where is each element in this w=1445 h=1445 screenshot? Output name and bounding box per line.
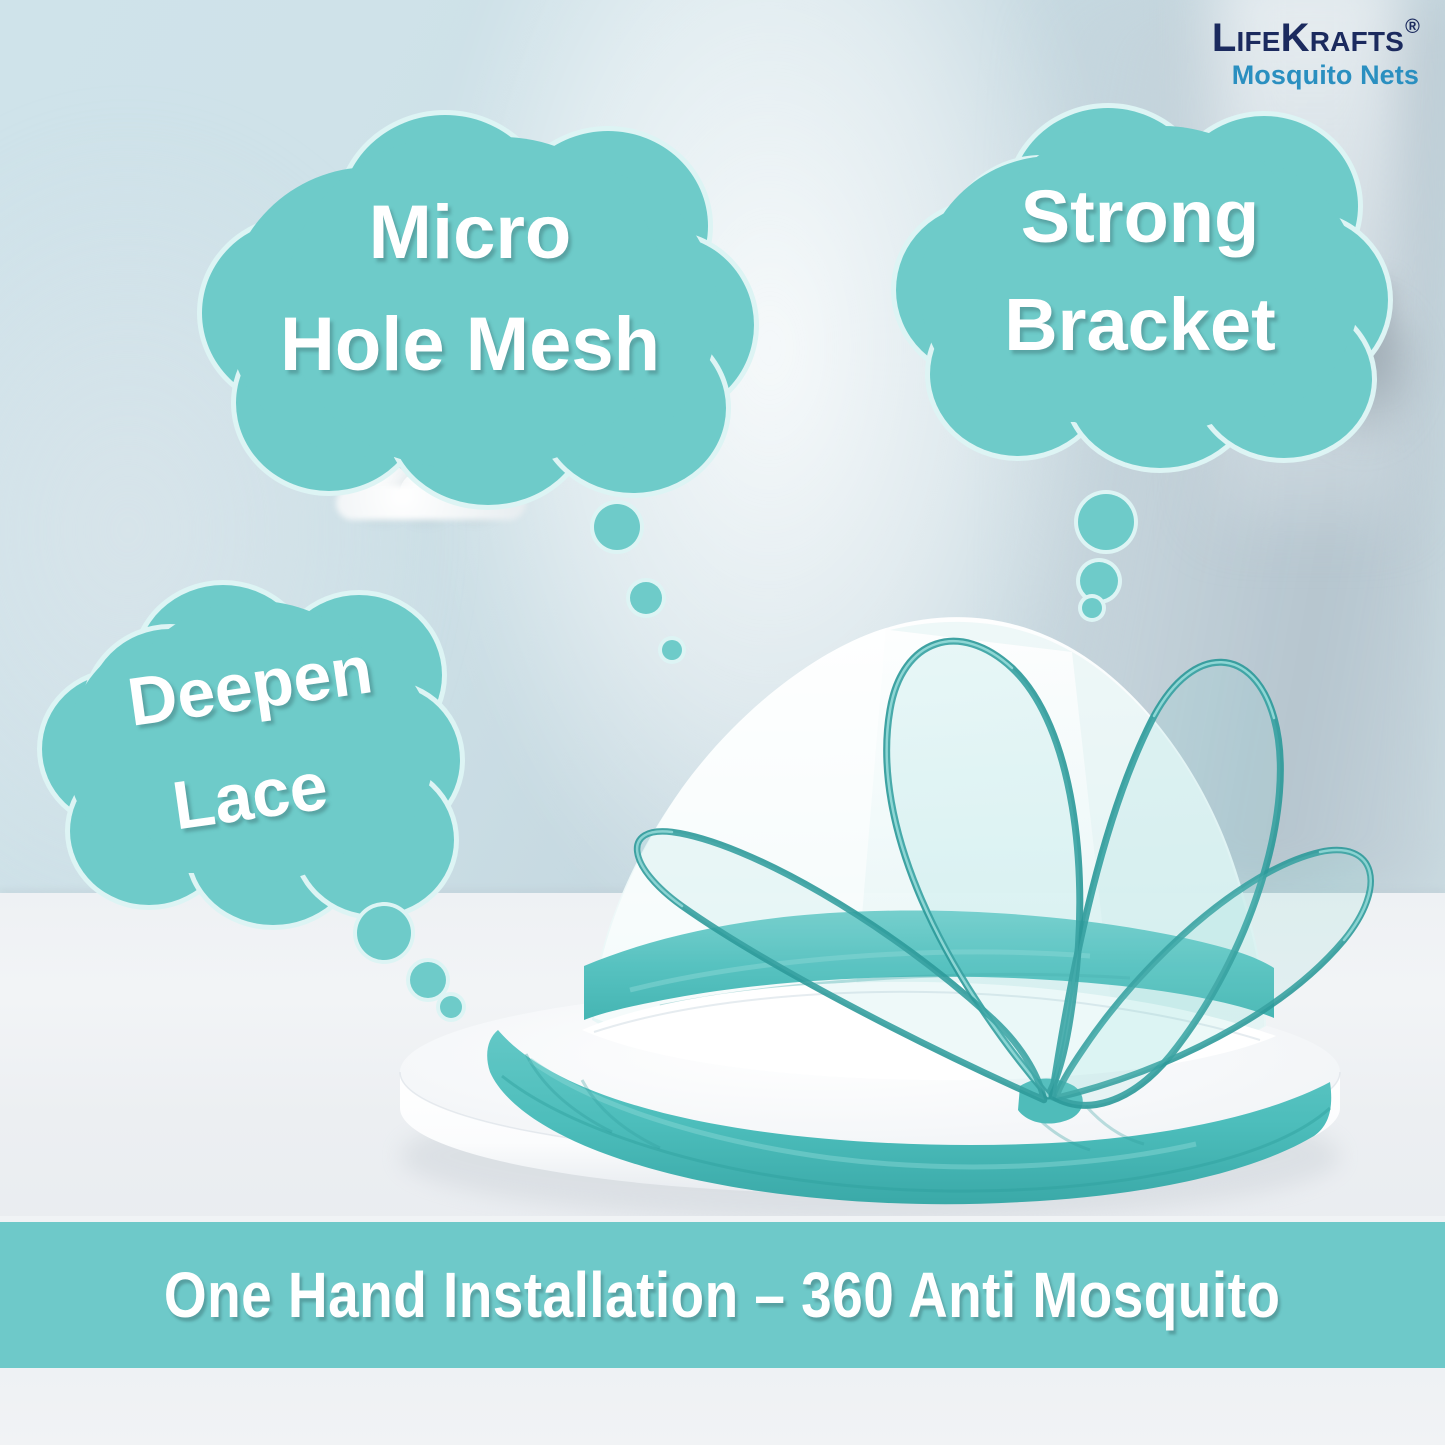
callout-line-2: Bracket: [890, 282, 1390, 367]
mosquito-net-illustration: [330, 520, 1390, 1240]
bottom-banner: One Hand Installation – 360 Anti Mosquit…: [0, 1222, 1445, 1368]
product-marketing-image: LifeKrafts® Mosquito Nets Micro Hole Mes…: [0, 0, 1445, 1445]
brand-name: LifeKrafts®: [1212, 18, 1419, 58]
callout-line-1: Strong: [890, 174, 1390, 259]
callout-line-1: Micro: [190, 189, 750, 276]
banner-headline: One Hand Installation – 360 Anti Mosquit…: [164, 1258, 1280, 1332]
registered-trademark-icon: ®: [1405, 16, 1420, 38]
brand-name-text: LifeKrafts: [1212, 16, 1404, 60]
product-photo-mosquito-net: [330, 520, 1390, 1240]
brand-logo: LifeKrafts® Mosquito Nets: [1212, 18, 1419, 89]
callout-micro-hole-mesh: Micro Hole Mesh: [190, 115, 750, 505]
callout-line-2: Hole Mesh: [190, 301, 750, 388]
cloud-body: [976, 126, 1316, 432]
footer-strip: [0, 1368, 1445, 1445]
brand-tagline: Mosquito Nets: [1212, 62, 1419, 89]
callout-strong-bracket: Strong Bracket: [890, 108, 1390, 468]
